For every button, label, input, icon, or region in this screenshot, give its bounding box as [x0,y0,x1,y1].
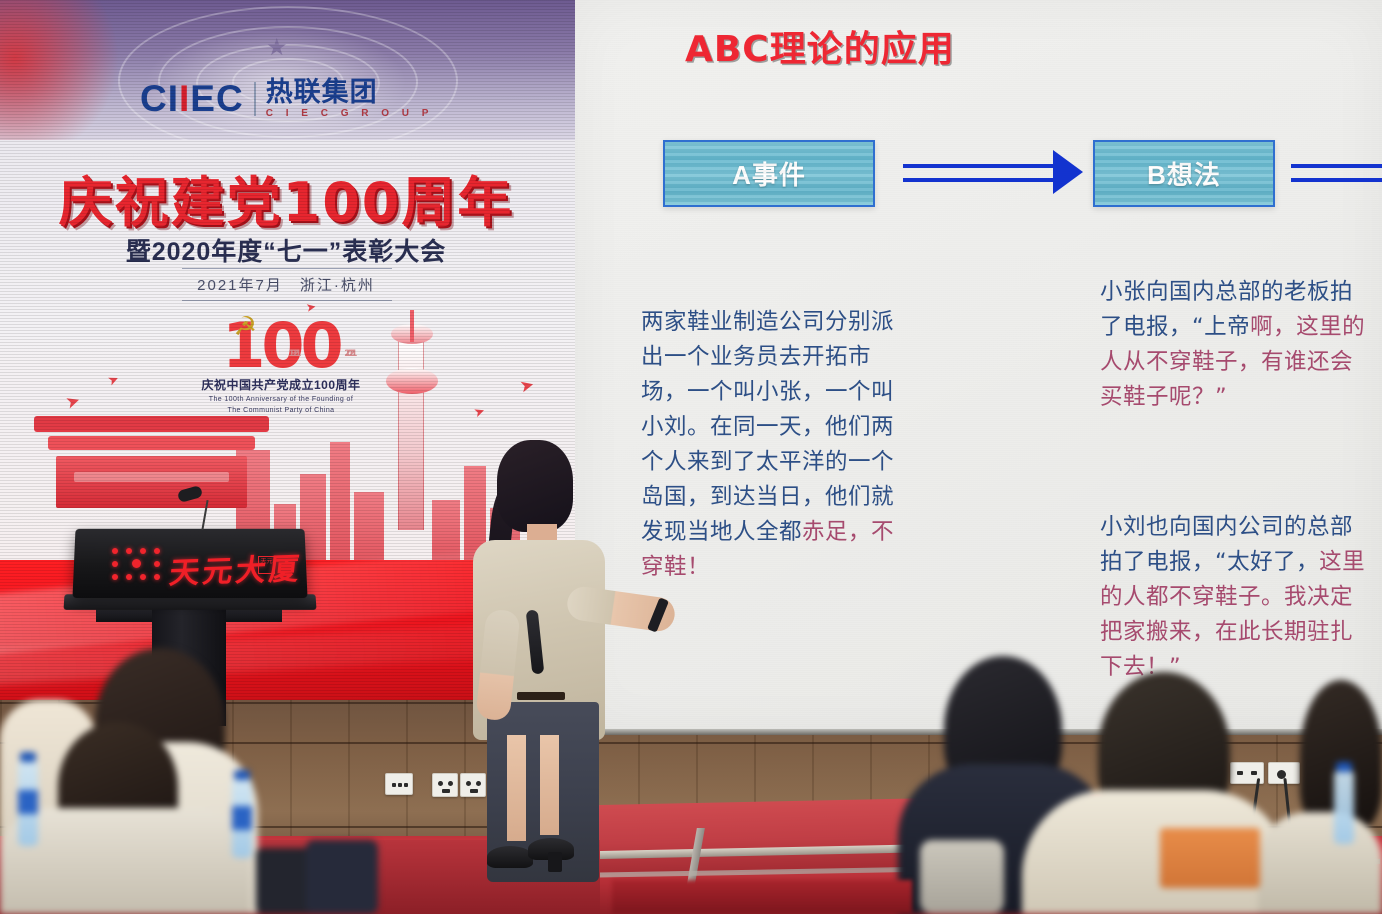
conference-chair [920,840,1004,914]
podium-seal-stamp: 天元 [258,556,275,574]
banner-dateline: 2021年7月 浙江·杭州 [36,274,536,295]
ciec-chinese-name: 热联集团 C I E C G R O U P [266,79,434,119]
presenter-shoe-heel [548,852,562,872]
banner-headline: 庆祝建党100周年 [36,158,536,237]
water-bottle-label [18,790,38,814]
ciec-english-label: C I E C G R O U P [266,109,434,119]
projection-screen: ABC理论的应用 A事件 B想法 两家鞋业制造公司分别派出一个业务员去开拓市场，… [575,0,1382,735]
podium-calligraphy: 天元大厦 [167,544,304,593]
ciec-logo: CIIEC 热联集团 C I E C G R O U P [140,78,433,120]
story-left-blue: 两家鞋业制造公司分别派出一个业务员去开拓市场，一个叫小张，一个叫小刘。在同一天，… [641,309,894,545]
tv-tower-graphic [398,340,424,530]
podium-led-dots [112,548,160,582]
emblem-caption-en-1: The 100th Anniversary of the Founding of [186,395,376,404]
tiananmen-graphic [34,416,269,508]
flow-box-b: B想法 [1093,140,1275,207]
story-paragraph-right-2: 小刘也向国内公司的总部拍了电报，“太好了，这里的人都不穿鞋子。我决定把家搬来，在… [1100,510,1372,685]
water-bottle-cap [1336,762,1352,772]
ciec-letters-2: EC [190,78,243,119]
water-bottle [1334,770,1354,844]
photo-scene: CIIEC 热联集团 C I E C G R O U P 庆祝建党100周年 暨… [0,0,1382,914]
led-ceiling-graphic [0,0,575,150]
front-table-edge [612,880,912,914]
presenter-leg-left [507,735,526,841]
emblem-number: ☭ 100 1921 2021 [222,318,339,374]
audience-body [1258,812,1382,914]
presenter-hair [497,440,573,532]
arrow-2-line-bottom [1291,178,1382,182]
presenter-speaker [455,440,665,890]
wall-switch [385,773,413,795]
emblem-year-right: 2021 [344,350,353,358]
arrow-1-head-icon [1053,150,1083,194]
presenter-leg-right [540,735,559,835]
water-bottle-cap [20,752,36,762]
arrow-1-line-top [903,164,1055,168]
presenter-belt [517,692,565,700]
flow-box-a: A事件 [663,140,875,207]
dove-icon: ➤ [305,299,317,315]
arrow-2-line-top [1291,164,1382,168]
story-right2-blue: 小刘也向国内公司的总部拍了电报，“太好了， [1100,514,1353,575]
ciec-wordmark: CIIEC [140,78,244,120]
water-bottle-label [232,806,252,830]
flow-box-b-label: B想法 [1147,155,1221,192]
ciec-letters-1: CI [140,78,179,119]
presenter-shoe-left [487,846,533,868]
hammer-sickle-icon: ☭ [228,314,258,344]
conference-chair [306,840,378,914]
ciec-chinese-label: 热联集团 [266,79,434,106]
logo-divider [254,82,256,116]
ciec-letter-bar: I [179,78,190,119]
table-document [1160,828,1260,888]
story-paragraph-left: 两家鞋业制造公司分别派出一个业务员去开拓市场，一个叫小张，一个叫小刘。在同一天，… [641,305,913,585]
emblem-caption-en-2: The Communist Party of China [186,406,376,415]
banner-subline: 暨2020年度“七一”表彰大会 [36,232,536,268]
water-bottle-cap [234,770,250,780]
story-paragraph-right-1: 小张向国内总部的老板拍了电报，“上帝啊，这里的人从不穿鞋子，有谁还会买鞋子呢？” [1100,275,1372,415]
arrow-1-line-bottom [903,178,1055,182]
cpc-100-emblem: ☭ 100 1921 2021 庆祝中国共产党成立100周年 The 100th… [186,318,376,416]
emblem-year-left: 1921 [288,350,297,358]
slide-title: ABC理论的应用 [685,20,955,72]
flow-box-a-label: A事件 [732,155,806,192]
